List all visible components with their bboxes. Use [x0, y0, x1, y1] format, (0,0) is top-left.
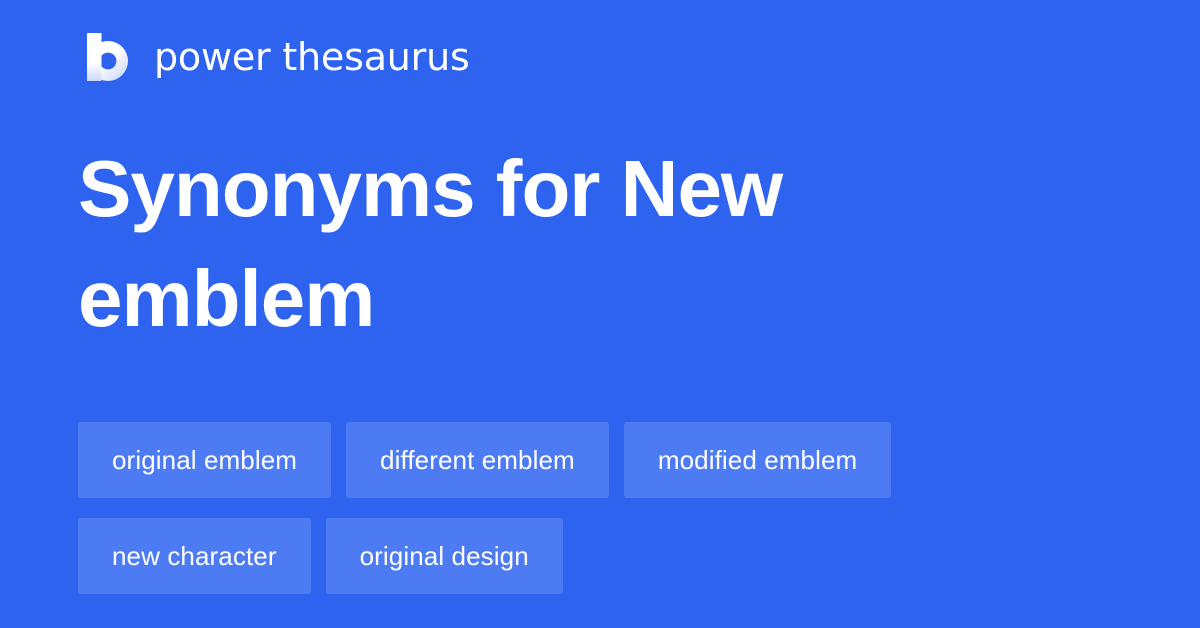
page-title: Synonyms for New emblem [78, 134, 1088, 354]
brand-name: power thesaurus [154, 36, 470, 78]
synonym-chip[interactable]: different emblem [346, 422, 609, 498]
synonym-chip-list: original emblem different emblem modifie… [78, 422, 1128, 594]
synonym-chip[interactable]: modified emblem [624, 422, 891, 498]
synonym-chip[interactable]: new character [78, 518, 311, 594]
synonyms-share-card: power thesaurus Synonyms for New emblem … [0, 0, 1200, 628]
synonym-chip[interactable]: original emblem [78, 422, 331, 498]
power-thesaurus-b-logo-icon [80, 31, 132, 83]
synonym-chip[interactable]: original design [326, 518, 563, 594]
brand-lockup[interactable]: power thesaurus [80, 29, 470, 85]
